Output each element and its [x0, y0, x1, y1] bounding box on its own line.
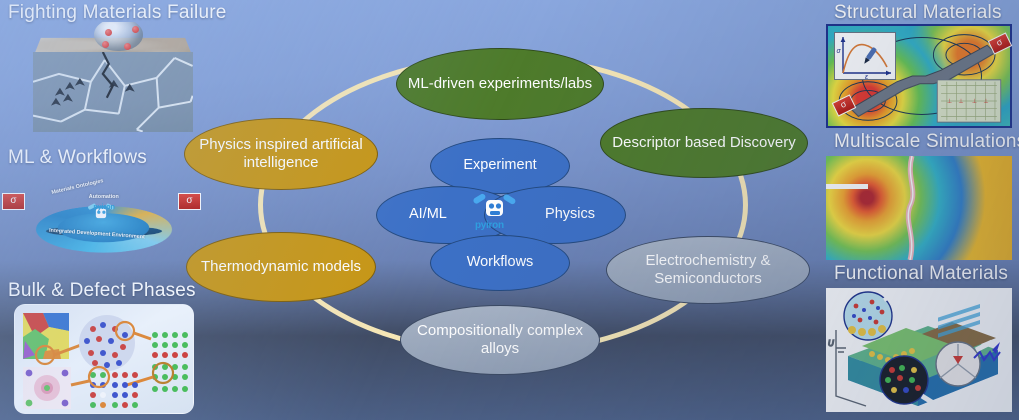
node-label: Thermodynamic models: [193, 258, 369, 276]
node-ml-driven-experiments[interactable]: ML-driven experiments/labs: [396, 48, 604, 120]
lattice-grid-right: [152, 332, 188, 392]
grain-boundary-network: [33, 52, 193, 132]
lattice-grid-bottom: [90, 372, 138, 408]
node-descriptor-based-discovery[interactable]: Descriptor based Discovery: [600, 108, 808, 178]
section-label-structural-materials: Structural Materials: [834, 2, 1002, 24]
node-label: Compositionally complex alloys: [401, 322, 599, 357]
node-label: Electrochemistry & Semiconductors: [607, 252, 809, 287]
node-label: Physics inspired artificial intelligence: [185, 136, 377, 171]
pyiron-hub-logo-text: pyiron: [475, 220, 504, 231]
atom-cluster: [79, 315, 135, 371]
pyiron-cycle-diagram: Materials Ontologies Automation Integrat…: [28, 174, 180, 280]
section-label-functional-materials: Functional Materials: [834, 263, 1008, 285]
material-block: [33, 52, 193, 132]
node-label: Physics: [537, 206, 603, 223]
section-label-bulk-defect-phases: Bulk & Defect Phases: [8, 280, 196, 302]
node-label: Workflows: [459, 254, 542, 271]
fighting-materials-failure-artwork: [18, 22, 208, 134]
figure-canvas: Fighting Materials Failure: [0, 0, 1019, 420]
node-label: AI/ML: [401, 206, 455, 223]
node-compositionally-complex-alloys[interactable]: Compositionally complex alloys: [400, 305, 600, 375]
node-physics-inspired-ai[interactable]: Physics inspired artificial intelligence: [184, 118, 378, 190]
svg-text:⊥: ⊥: [972, 98, 977, 105]
node-label: Experiment: [455, 157, 544, 174]
multiscale-simulations-artwork: [826, 156, 1012, 260]
node-thermodynamic-models[interactable]: Thermodynamic models: [186, 232, 376, 302]
cycle-label-automation: Automation: [89, 194, 119, 200]
functional-materials-artwork: U: [826, 288, 1012, 412]
section-label-ml-workflows: ML & Workflows: [8, 147, 147, 169]
section-label-multiscale-simulations: Multiscale Simulations: [834, 131, 1019, 153]
atomistic-inset: ⊥⊥⊥⊥: [937, 80, 1000, 122]
stress-strain-curve-inset: σ ε: [834, 32, 896, 80]
svg-text:⊥: ⊥: [983, 98, 988, 105]
svg-text:σ: σ: [837, 48, 842, 55]
corrosion-spot: [102, 41, 109, 48]
section-label-fighting-materials-failure: Fighting Materials Failure: [8, 2, 227, 24]
electrolyte-magnifier: [844, 292, 898, 340]
bulk-defect-phases-artwork: [14, 304, 194, 414]
stress-arrow-right: σ: [178, 193, 201, 210]
pyiron-logo-text: pyiron: [93, 204, 114, 211]
stress-arrow-left: σ: [2, 193, 25, 210]
svg-text:⊥: ⊥: [947, 98, 952, 105]
svg-text:U: U: [828, 339, 834, 348]
structural-materials-artwork: ⊥⊥⊥⊥ σ ε σ σ: [826, 24, 1012, 128]
node-workflows[interactable]: Workflows: [430, 235, 570, 291]
charge-density-map: [23, 367, 71, 409]
svg-text:⊥: ⊥: [958, 98, 963, 105]
node-electrochemistry-semiconductors[interactable]: Electrochemistry & Semiconductors: [606, 236, 810, 304]
svg-text:ε: ε: [865, 74, 869, 79]
node-label: ML-driven experiments/labs: [400, 75, 600, 93]
cycle-label-materials-ontologies: Materials Ontologies: [51, 178, 104, 196]
pyiron-hub-logo: pyiron: [473, 192, 517, 232]
node-label: Descriptor based Discovery: [604, 134, 803, 152]
